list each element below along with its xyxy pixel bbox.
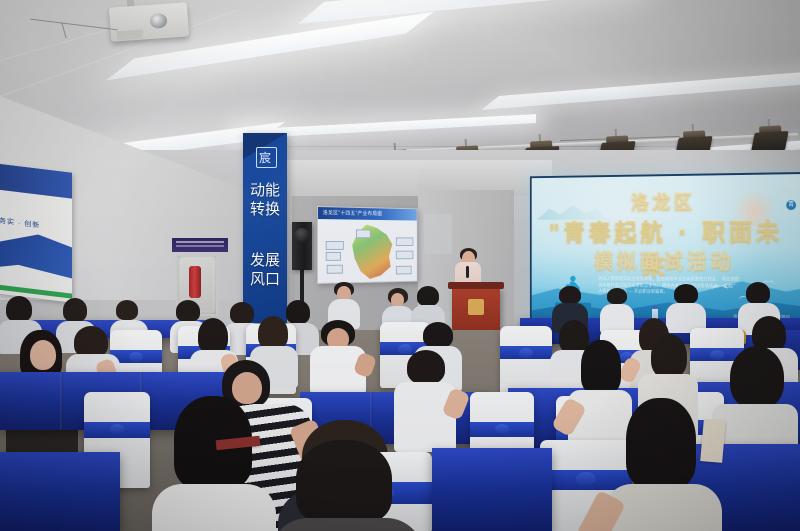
screen-badge: 青 [786,200,796,210]
poster-swoosh-graphic [0,228,72,280]
vertical-banner: 动能转换 发展风口 [243,133,287,323]
conference-hall-photo: 务实 · 创新 动能转换 发展风口 洛龙区"十四五"产业布局图 [0,0,800,531]
pa-speaker-icon [292,222,312,270]
map-label [326,252,341,261]
screen-title-line3: 模拟面试活动 [532,246,800,276]
microphone-icon [466,266,469,278]
map-board-title: 洛龙区"十四五"产业布局图 [323,209,382,217]
screen-title-line1: 洛龙区 [532,186,800,215]
fire-extinguisher-icon [189,266,201,298]
map-label [327,265,343,274]
map-label [396,251,413,260]
fire-safety-sign [172,238,228,252]
poster-text: 务实 · 创新 [0,216,40,231]
table-row [0,452,120,531]
podium-top [448,282,504,289]
wall-poster: 务实 · 创新 [0,163,72,302]
banner-logo-icon [256,147,277,168]
map-board-header: 洛龙区"十四五"产业布局图 [318,207,417,221]
table-row [432,448,552,531]
banner-line-top: 动能转换 [243,181,287,219]
stage-light-icon [752,125,789,153]
map-label [396,237,413,246]
map-label [326,241,344,250]
map-label [396,266,412,275]
handout-paper [700,419,726,463]
ceiling-projector-icon [109,2,189,41]
map-display-board: 洛龙区"十四五"产业布局图 [317,206,418,284]
map-label [356,229,371,238]
banner-line-bottom: 发展风口 [243,251,287,289]
chair [500,326,552,396]
wall-notice-board [424,214,452,254]
podium [452,287,500,335]
podium-emblem [468,299,484,315]
